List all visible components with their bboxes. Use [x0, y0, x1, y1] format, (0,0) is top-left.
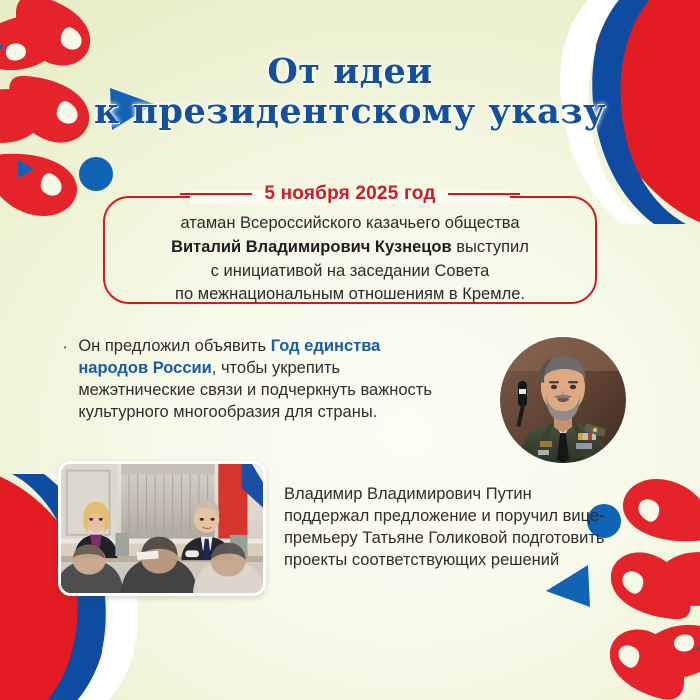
bullet-paragraph: Он предложил объявить Год единства народ… [78, 336, 452, 424]
intro-person-name: Виталий Владимирович Кузнецов [171, 238, 452, 256]
date-badge: 5 ноября 2025 год [0, 183, 700, 205]
photo-meeting-graphic [61, 464, 263, 593]
poster-canvas: От идеи к президентскому указу 5 ноября … [0, 0, 700, 700]
bullet-text-before: Он предложил объявить [78, 337, 270, 355]
intro-line-4: по межнациональным отношениям в Кремле. [175, 285, 525, 303]
photo-ataman-portrait [500, 337, 626, 463]
intro-line-3: с инициативой на заседании Совета [211, 262, 490, 280]
date-rule-right [448, 193, 520, 195]
date-label: 5 ноября 2025 год [264, 183, 435, 205]
intro-line-2-tail: выступил [452, 238, 529, 256]
intro-line-1: атаман Всероссийского казачьего общества [180, 214, 519, 232]
bullet-marker: · [62, 335, 68, 424]
blue-triangle-deco-left [18, 160, 34, 178]
date-rule-left [180, 193, 252, 195]
photo-kremlin-meeting [58, 461, 266, 596]
bullet-item: · Он предложил объявить Год единства нар… [62, 336, 452, 424]
title-line-two: к президентскому указу [0, 92, 700, 132]
intro-paragraph: атаман Всероссийского казачьего общества… [105, 212, 595, 307]
title-line-one: От идеи [0, 52, 700, 92]
photo-ataman-graphic [500, 337, 626, 463]
bottom-paragraph: Владимир Владимирович Путин поддержал пр… [284, 483, 614, 571]
poster-title: От идеи к президентскому указу [0, 52, 700, 132]
